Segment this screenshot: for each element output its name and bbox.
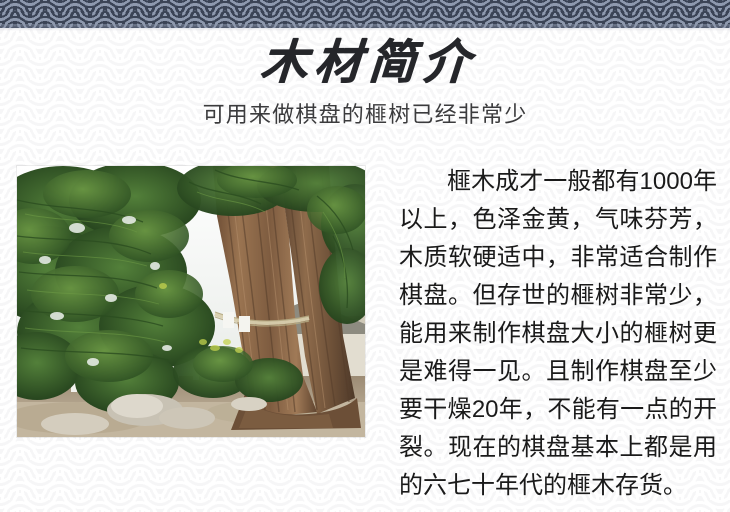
ancient-torreya-tree-photo: [17, 166, 365, 437]
description-paragraph: 榧木成才一般都有1000年以上，色泽金黄，气味芬芳，木质软硬适中，非常适合制作棋…: [399, 163, 717, 505]
top-border-fade: [0, 24, 730, 31]
tree-photo-illustration: [17, 166, 365, 437]
paragraph-text: 榧木成才一般都有1000年以上，色泽金黄，气味芬芳，木质软硬适中，非常适合制作棋…: [399, 168, 717, 499]
header: 木材简介 可用来做棋盘的榧树已经非常少: [0, 34, 730, 129]
page-title: 木材简介: [0, 34, 730, 92]
product-description-page: 木材简介 可用来做棋盘的榧树已经非常少: [0, 0, 730, 512]
page-subtitle: 可用来做棋盘的榧树已经非常少: [0, 101, 730, 129]
